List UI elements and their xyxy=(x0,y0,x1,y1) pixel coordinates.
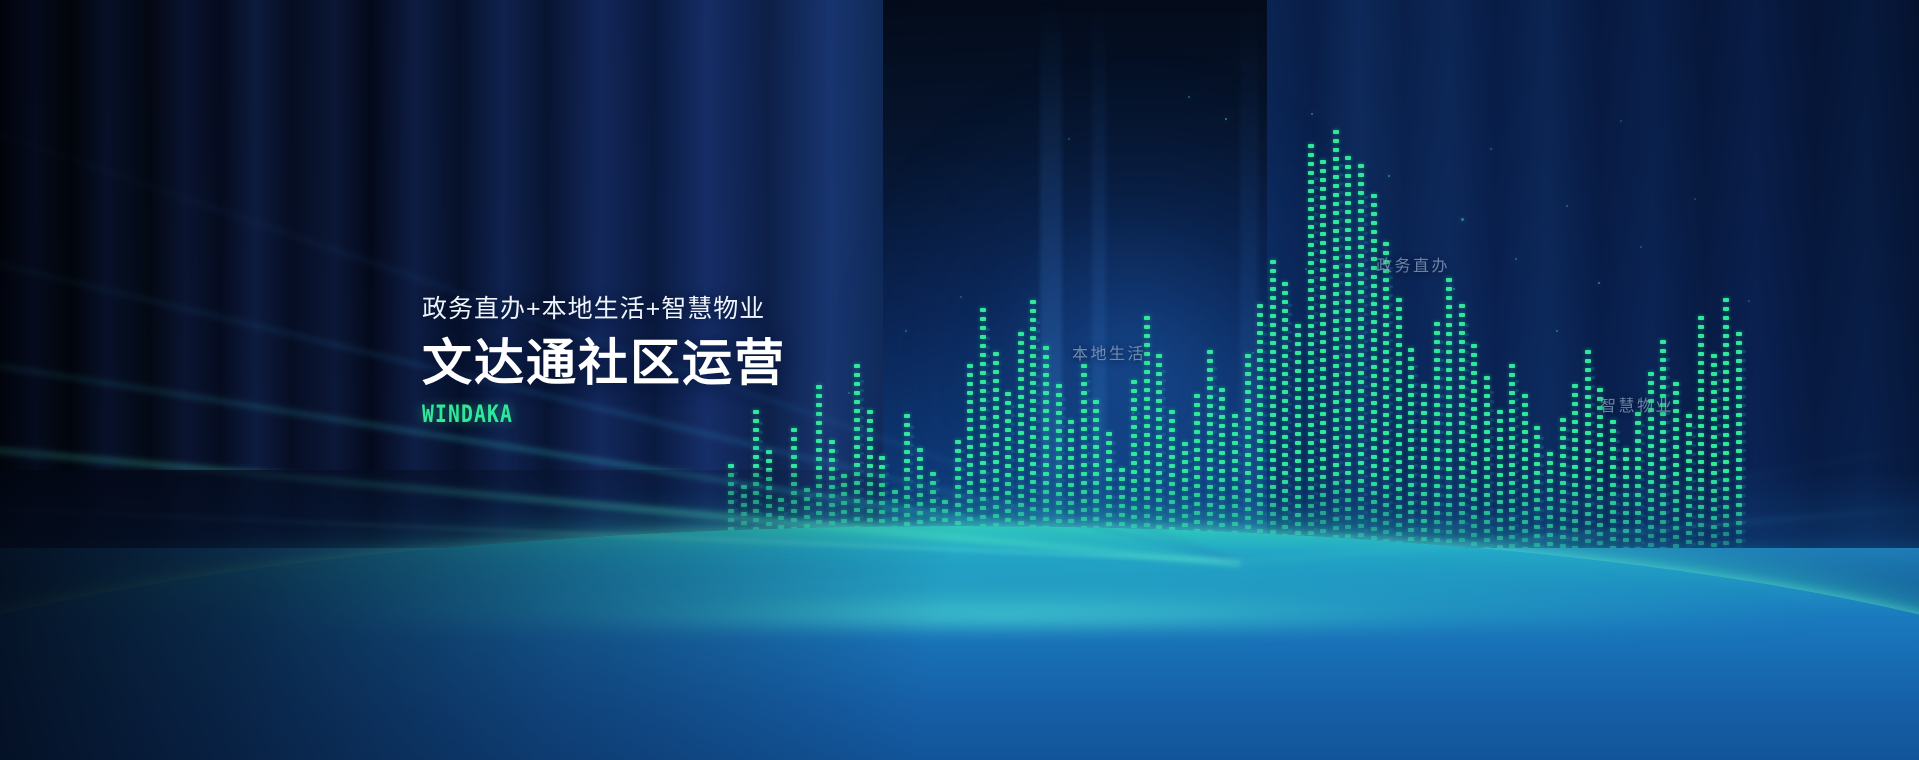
skyline-label-1: 本地生活 xyxy=(1072,340,1146,364)
skyline-label-2: 政务直办 xyxy=(1376,252,1450,276)
hero-banner: 本地生活政务直办智慧物业 政务直办+本地生活+智慧物业 文达通社区运营 WIND… xyxy=(0,0,1919,760)
particle xyxy=(1132,412,1134,414)
particle xyxy=(1598,282,1600,284)
ground-shading xyxy=(0,548,1919,760)
headline-block: 政务直办+本地生活+智慧物业 文达通社区运营 WINDAKA xyxy=(422,294,786,428)
banner-title: 文达通社区运营 xyxy=(422,335,786,391)
particle xyxy=(1640,246,1642,248)
particle xyxy=(848,392,850,394)
particle xyxy=(1225,118,1227,120)
particle xyxy=(1252,352,1254,354)
particle xyxy=(1388,175,1390,177)
particle xyxy=(1311,113,1313,115)
particle xyxy=(1453,288,1455,290)
particle xyxy=(1490,148,1492,150)
particle xyxy=(1068,138,1070,140)
particle xyxy=(1566,205,1568,207)
banner-subtitle: 政务直办+本地生活+智慧物业 xyxy=(422,294,786,324)
particle xyxy=(1748,300,1750,302)
particle xyxy=(1305,268,1307,270)
particle xyxy=(1372,300,1374,302)
particle xyxy=(1700,352,1702,354)
particle xyxy=(960,296,962,298)
particle xyxy=(905,330,907,332)
particle xyxy=(1515,258,1517,260)
particle xyxy=(1620,120,1622,122)
particle xyxy=(1694,198,1696,200)
particle xyxy=(1188,96,1190,98)
brand-wordmark: WINDAKA xyxy=(422,400,720,428)
particle xyxy=(1461,218,1464,221)
skyline-label-3: 智慧物业 xyxy=(1600,392,1674,416)
particle xyxy=(1556,330,1558,332)
